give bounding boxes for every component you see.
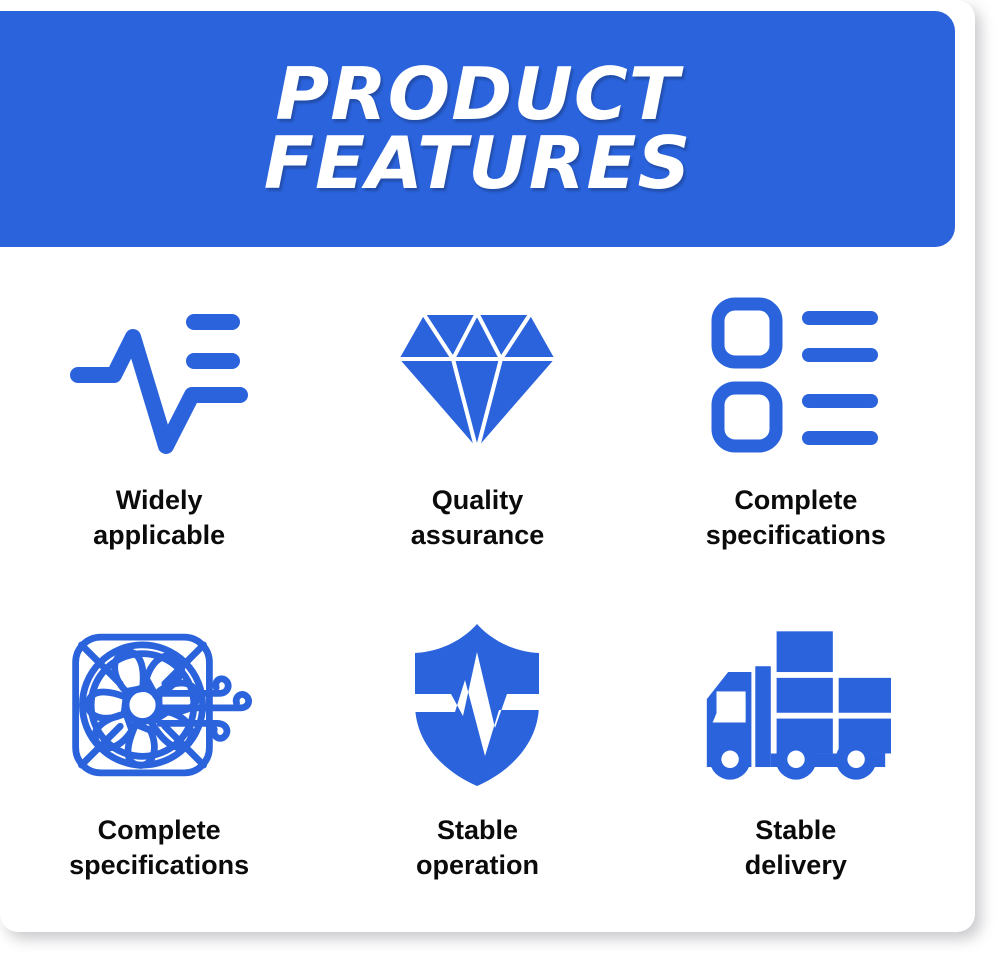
delivery-truck-icon <box>701 612 891 797</box>
feature-label: Quality assurance <box>411 483 545 553</box>
feature-label: Stable delivery <box>745 813 847 883</box>
feature-label: Stable operation <box>416 813 539 883</box>
checklist-icon <box>701 282 891 467</box>
feature-item-stable-operation[interactable]: Stable operation <box>318 588 636 883</box>
feature-item-quality-assurance[interactable]: Quality assurance <box>318 258 636 553</box>
feature-label: Widely applicable <box>93 483 225 553</box>
page-title: PRODUCT FEATURES <box>264 60 692 198</box>
feature-item-widely-applicable[interactable]: Widely applicable <box>0 258 318 553</box>
feature-item-complete-specifications-fan[interactable]: Complete specifications <box>0 588 318 883</box>
feature-label: Complete specifications <box>706 483 886 553</box>
pulse-chart-icon <box>64 282 254 467</box>
header-banner: PRODUCT FEATURES <box>0 11 955 247</box>
feature-item-complete-specifications-list[interactable]: Complete specifications <box>637 258 955 553</box>
product-features-card: PRODUCT FEATURES Widely applicable <box>0 0 975 932</box>
shield-pulse-icon <box>382 612 572 797</box>
feature-label: Complete specifications <box>69 813 249 883</box>
feature-grid: Widely applicable Qu <box>0 258 955 918</box>
feature-item-stable-delivery[interactable]: Stable delivery <box>637 588 955 883</box>
diamond-gem-icon <box>382 282 572 467</box>
cooling-fan-icon <box>64 612 254 797</box>
